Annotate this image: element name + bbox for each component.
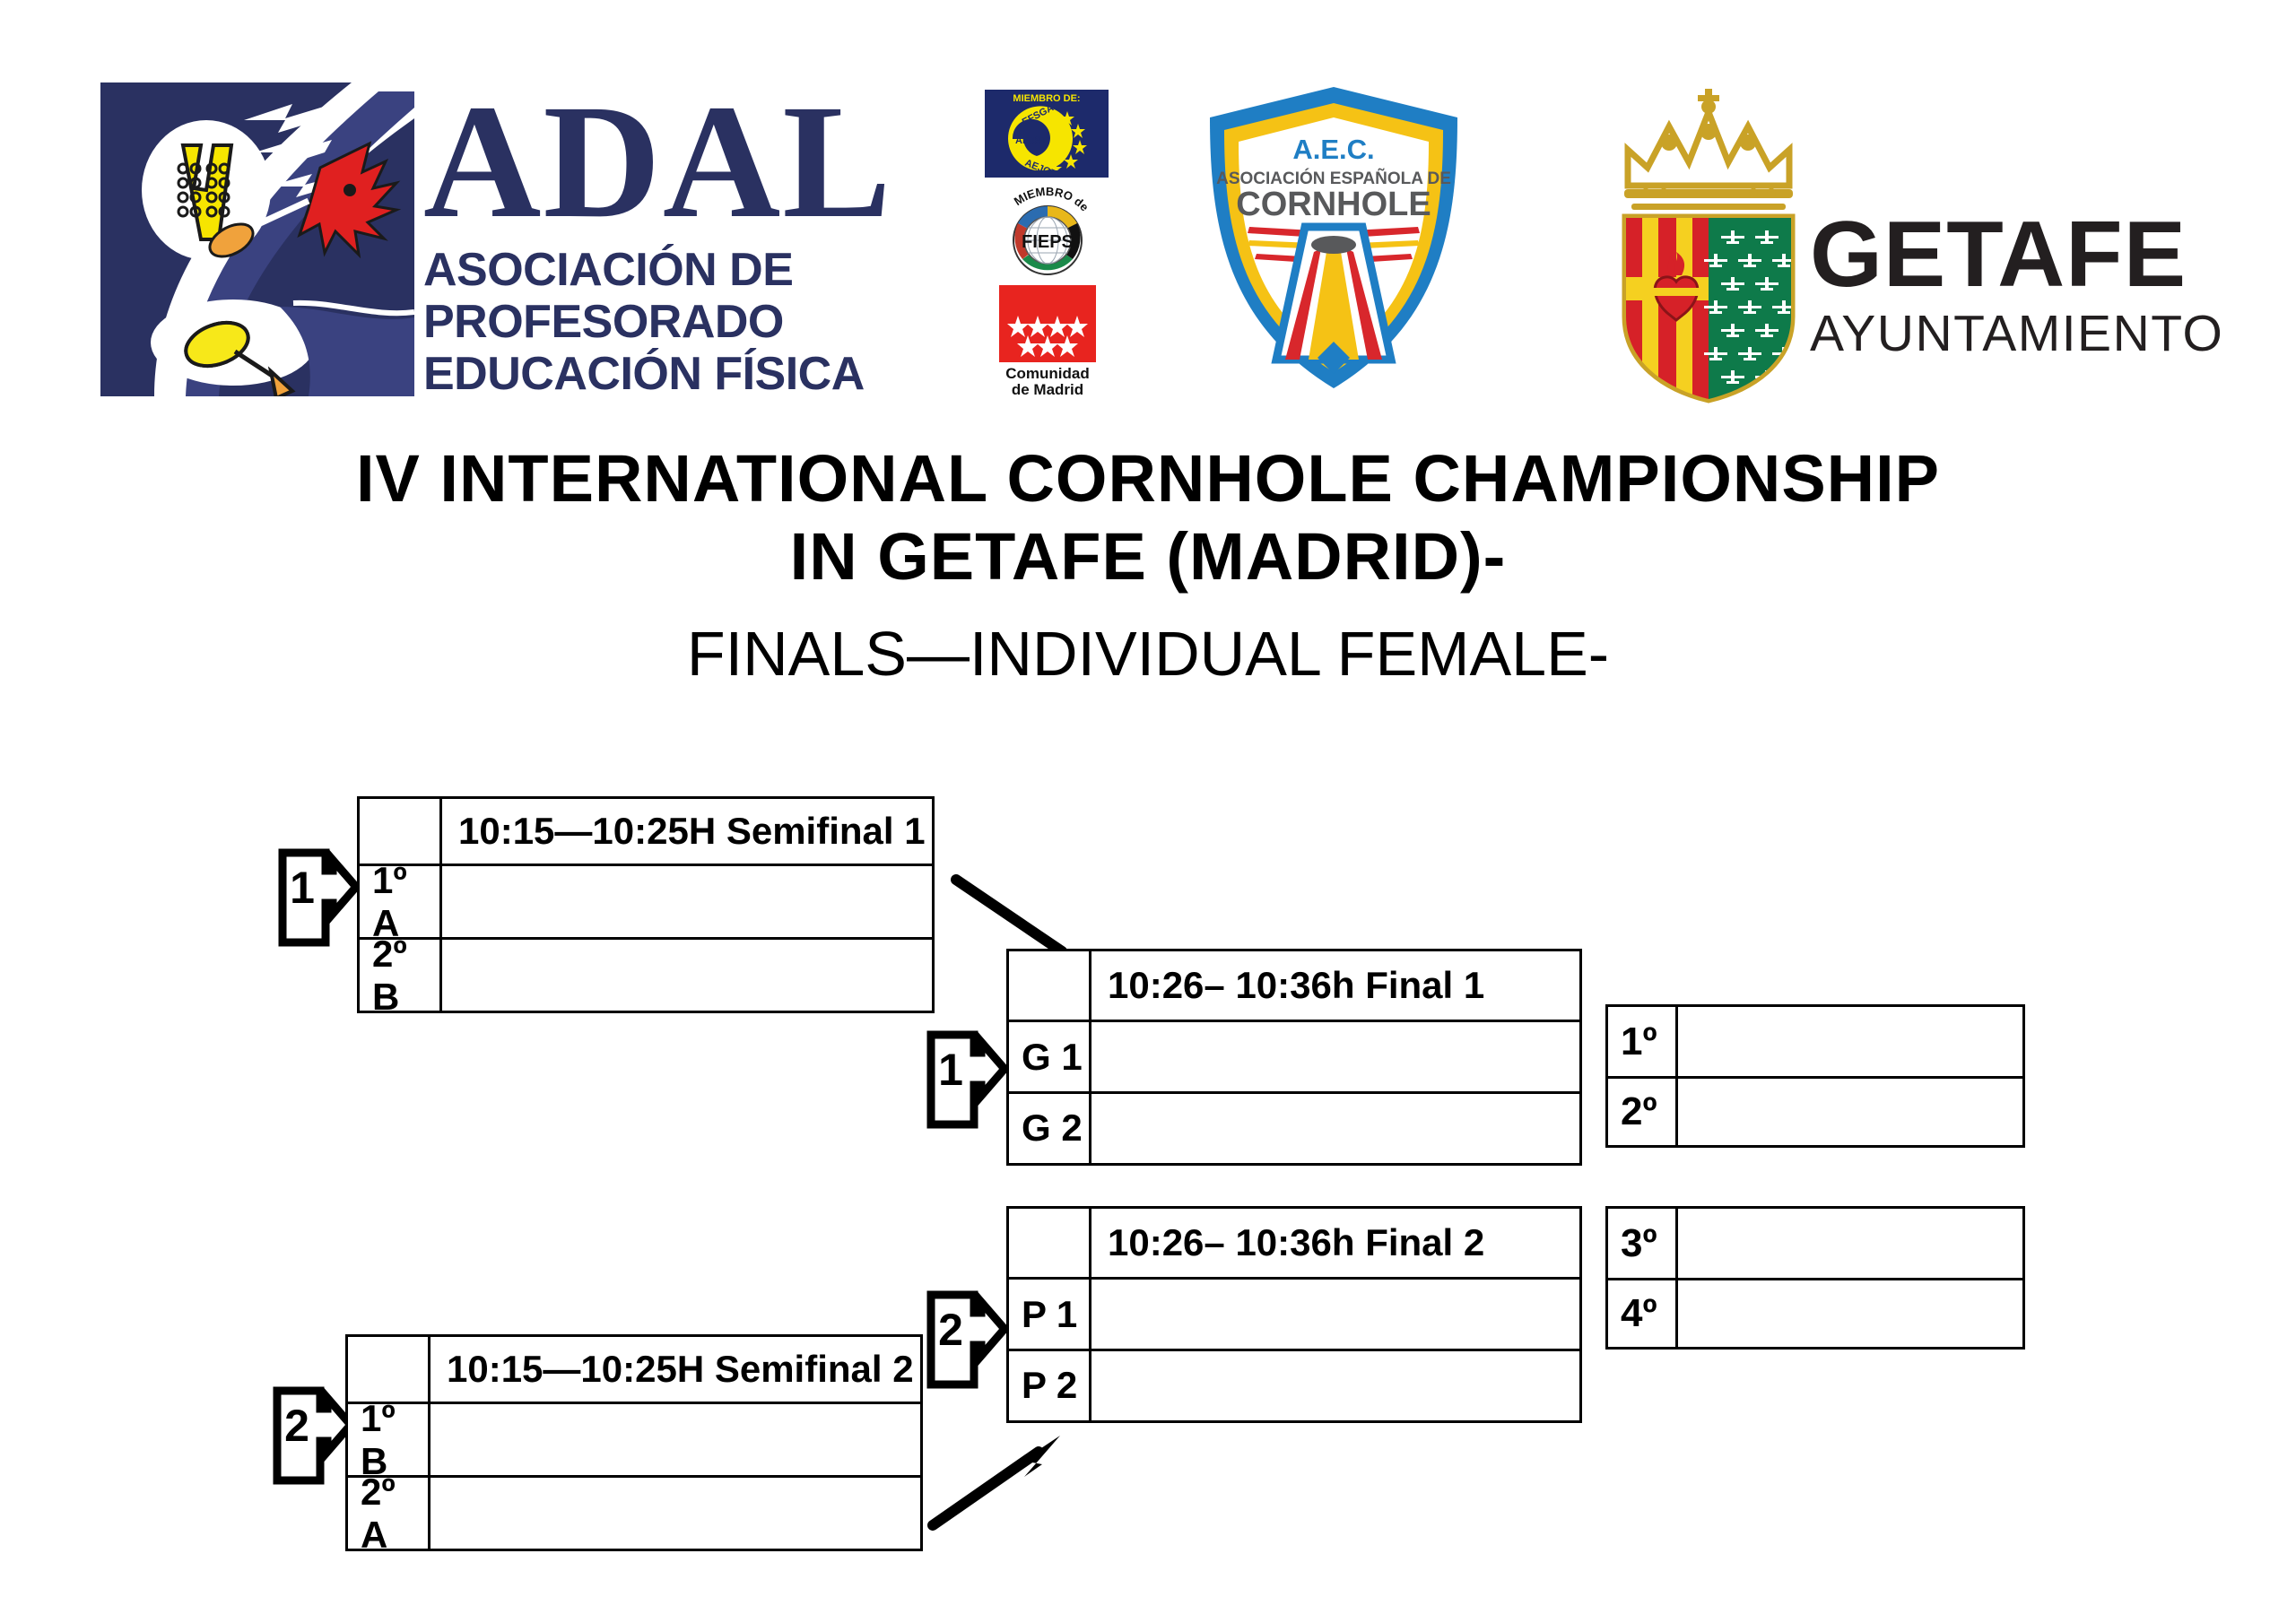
semifinal1-header-row: 10:15—10:25H Semifinal 1 — [360, 799, 932, 864]
semifinal1-row-2[interactable]: 2º B — [360, 937, 932, 1011]
results-top-row-1[interactable]: 1º — [1608, 1007, 2022, 1076]
connector-arrow-semifinal2-to-final2 — [924, 1430, 1067, 1533]
results-bottom-row-1-label: 3º — [1608, 1209, 1678, 1278]
results-podium-bottom[interactable]: 3º 4º — [1605, 1206, 2025, 1350]
results-bottom-row-2[interactable]: 4º — [1608, 1278, 2022, 1347]
results-top-row-2[interactable]: 2º — [1608, 1076, 2022, 1145]
final1-row-1-label: G 1 — [1009, 1022, 1091, 1091]
marker-semifinal1: 1 — [277, 847, 360, 948]
marker-semifinal2: 2 — [272, 1385, 354, 1486]
final2-header-spacer — [1009, 1209, 1091, 1277]
semifinal2-row-1[interactable]: 1º B — [348, 1402, 920, 1475]
results-top-row-2-value[interactable] — [1678, 1079, 2022, 1145]
results-bottom-row-2-label: 4º — [1608, 1280, 1678, 1347]
final1-row-2[interactable]: G 2 — [1009, 1091, 1579, 1163]
final1-row-2-label: G 2 — [1009, 1094, 1091, 1163]
final2-row-1-label: P 1 — [1009, 1280, 1091, 1349]
final2-row-2-label: P 2 — [1009, 1351, 1091, 1420]
match-semifinal-2[interactable]: 10:15—10:25H Semifinal 2 1º B 2º A — [345, 1334, 923, 1551]
results-bottom-row-2-value[interactable] — [1678, 1280, 2022, 1347]
tournament-bracket: 1 10:15—10:25H Semifinal 1 1º A 2º B 1 — [0, 0, 2296, 1623]
match-final-1[interactable]: 10:26– 10:36h Final 1 G 1 G 2 — [1006, 949, 1582, 1166]
semifinal1-row-1-label: 1º A — [360, 866, 442, 937]
results-bottom-row-1-value[interactable] — [1678, 1209, 2022, 1278]
semifinal2-header-label: 10:15—10:25H Semifinal 2 — [430, 1337, 920, 1402]
marker-final2: 2 — [926, 1289, 1008, 1390]
semifinal2-row-1-value[interactable] — [430, 1404, 920, 1475]
semifinal2-row-2-label: 2º A — [348, 1478, 430, 1549]
final2-row-2[interactable]: P 2 — [1009, 1349, 1579, 1420]
results-podium-top[interactable]: 1º 2º — [1605, 1004, 2025, 1148]
results-top-row-1-label: 1º — [1608, 1007, 1678, 1076]
semifinal1-row-1[interactable]: 1º A — [360, 864, 932, 937]
final2-row-1[interactable]: P 1 — [1009, 1277, 1579, 1349]
results-top-row-2-label: 2º — [1608, 1079, 1678, 1145]
results-bottom-row-1[interactable]: 3º — [1608, 1209, 2022, 1278]
final2-header-row: 10:26– 10:36h Final 2 — [1009, 1209, 1579, 1277]
final1-header-label: 10:26– 10:36h Final 1 — [1091, 951, 1579, 1020]
final1-row-1-value[interactable] — [1091, 1022, 1579, 1091]
final2-header-label: 10:26– 10:36h Final 2 — [1091, 1209, 1579, 1277]
match-final-2[interactable]: 10:26– 10:36h Final 2 P 1 P 2 — [1006, 1206, 1582, 1423]
final1-header-row: 10:26– 10:36h Final 1 — [1009, 951, 1579, 1020]
semifinal2-header-spacer — [348, 1337, 430, 1402]
match-semifinal-1[interactable]: 10:15—10:25H Semifinal 1 1º A 2º B — [357, 796, 935, 1013]
marker-final1: 1 — [926, 1029, 1008, 1130]
final2-row-2-value[interactable] — [1091, 1351, 1579, 1420]
semifinal1-row-2-value[interactable] — [442, 940, 932, 1011]
semifinal1-header-spacer — [360, 799, 442, 864]
marker-semifinal2-number: 2 — [284, 1401, 309, 1451]
final1-row-2-value[interactable] — [1091, 1094, 1579, 1163]
semifinal2-row-2-value[interactable] — [430, 1478, 920, 1549]
results-top-row-1-value[interactable] — [1678, 1007, 2022, 1076]
semifinal2-row-1-label: 1º B — [348, 1404, 430, 1475]
marker-final2-number: 2 — [938, 1305, 963, 1355]
final1-header-spacer — [1009, 951, 1091, 1020]
marker-final1-number: 1 — [938, 1045, 963, 1095]
marker-semifinal1-number: 1 — [290, 863, 315, 913]
semifinal1-header-label: 10:15—10:25H Semifinal 1 — [442, 799, 932, 864]
final1-row-1[interactable]: G 1 — [1009, 1020, 1579, 1091]
semifinal1-row-2-label: 2º B — [360, 940, 442, 1011]
semifinal2-row-2[interactable]: 2º A — [348, 1475, 920, 1549]
semifinal1-row-1-value[interactable] — [442, 866, 932, 937]
final2-row-1-value[interactable] — [1091, 1280, 1579, 1349]
semifinal2-header-row: 10:15—10:25H Semifinal 2 — [348, 1337, 920, 1402]
